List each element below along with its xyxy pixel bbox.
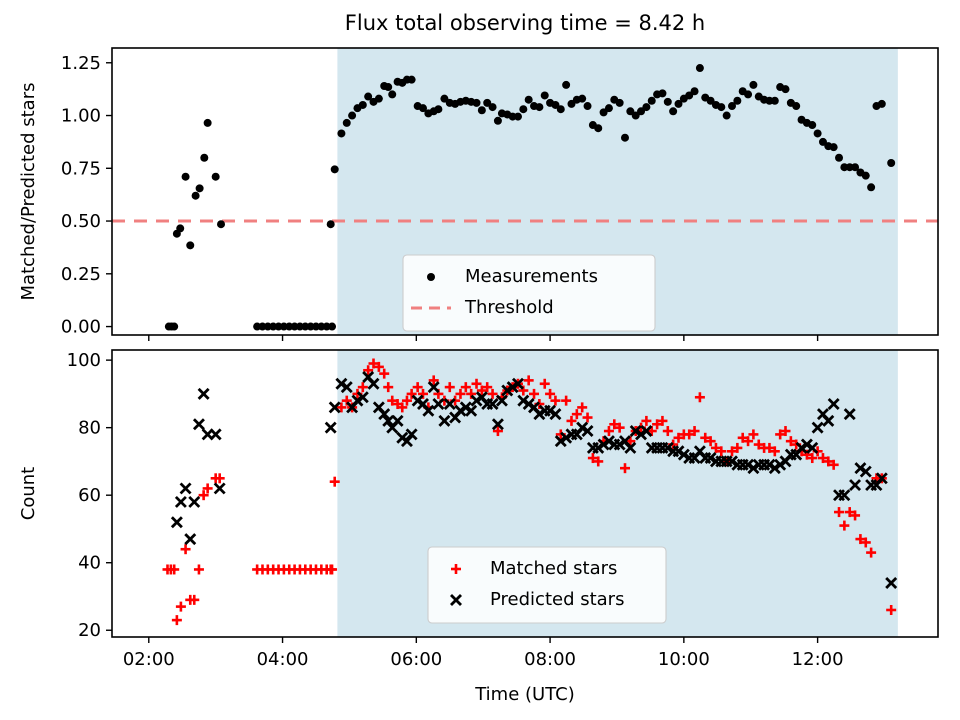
measurement-point	[204, 119, 212, 127]
legend: MeasurementsThreshold	[403, 255, 655, 331]
y-axis-label: Count	[18, 467, 39, 520]
measurement-point	[212, 173, 220, 181]
plot-svg: Flux total observing time = 8.42 h 0.000…	[0, 0, 960, 720]
y-tick-label: 0.25	[61, 264, 101, 285]
measurement-point	[359, 101, 367, 109]
measurement-point	[584, 102, 592, 110]
measurement-point	[196, 184, 204, 192]
y-tick-label: 40	[78, 553, 101, 574]
legend-label: Measurements	[465, 266, 598, 287]
measurement-point	[648, 97, 656, 105]
measurement-point	[562, 81, 570, 89]
measurement-point	[217, 220, 225, 228]
measurement-point	[733, 97, 741, 105]
y-tick-label: 20	[78, 620, 101, 641]
measurement-point	[327, 220, 335, 228]
chart-title: Flux total observing time = 8.42 h	[345, 11, 705, 35]
measurement-point	[192, 192, 200, 200]
x-axis-label: Time (UTC)	[474, 684, 575, 705]
x-tick-label: 10:00	[658, 649, 710, 670]
measurement-point	[331, 165, 339, 173]
measurement-point	[862, 172, 870, 180]
legend-label: Threshold	[464, 297, 554, 318]
legend: Matched starsPredicted stars	[428, 547, 666, 623]
legend-label: Matched stars	[490, 558, 617, 579]
measurement-point	[337, 129, 345, 137]
legend-label: Predicted stars	[490, 589, 624, 610]
measurement-point	[186, 241, 194, 249]
x-tick-label: 04:00	[257, 649, 309, 670]
measurement-point	[328, 323, 336, 331]
x-tick-label: 02:00	[123, 649, 175, 670]
measurement-point	[887, 159, 895, 167]
measurement-point	[478, 106, 486, 114]
y-tick-label: 0.75	[61, 158, 101, 179]
measurement-point	[867, 183, 875, 191]
measurement-point	[814, 129, 822, 137]
measurement-point	[388, 90, 396, 98]
measurement-point	[605, 104, 613, 112]
measurement-point	[541, 91, 549, 99]
measurement-point	[176, 224, 184, 232]
y-tick-label: 0.50	[61, 211, 101, 232]
measurement-point	[616, 99, 624, 107]
measurement-point	[489, 103, 497, 111]
measurement-point	[434, 105, 442, 113]
measurement-point	[408, 76, 416, 84]
measurement-point	[348, 112, 356, 120]
measurement-point	[642, 103, 650, 111]
measurement-point	[658, 89, 666, 97]
y-tick-label: 0.00	[61, 317, 101, 338]
measurement-point	[535, 103, 543, 111]
y-tick-label: 1.00	[61, 106, 101, 127]
measurement-point	[669, 107, 677, 115]
measurement-point	[427, 273, 435, 281]
measurement-point	[723, 112, 731, 120]
measurement-point	[473, 99, 481, 107]
measurement-point	[744, 90, 752, 98]
measurement-point	[878, 100, 886, 108]
measurement-point	[525, 96, 533, 104]
measurement-point	[664, 98, 672, 106]
measurement-point	[384, 83, 392, 91]
measurement-point	[696, 64, 704, 72]
y-tick-label: 1.25	[61, 53, 101, 74]
measurement-point	[782, 85, 790, 93]
y-axis-label: Matched/Predicted stars	[18, 83, 39, 301]
measurement-point	[375, 95, 383, 103]
measurement-point	[792, 102, 800, 110]
x-tick-label: 06:00	[390, 649, 442, 670]
x-tick-label: 08:00	[524, 649, 576, 670]
measurement-point	[514, 113, 522, 121]
measurement-point	[594, 124, 602, 132]
measurement-point	[578, 95, 586, 103]
measurement-point	[170, 323, 178, 331]
measurement-point	[835, 154, 843, 162]
measurement-point	[808, 121, 816, 129]
y-tick-label: 60	[78, 485, 101, 506]
measurement-point	[691, 87, 699, 95]
measurement-point	[557, 105, 565, 113]
measurement-point	[749, 81, 757, 89]
measurement-point	[494, 117, 502, 125]
measurement-point	[200, 154, 208, 162]
measurement-point	[717, 103, 725, 111]
measurement-point	[343, 119, 351, 127]
measurement-point	[621, 134, 629, 142]
y-tick-label: 80	[78, 418, 101, 439]
measurement-point	[519, 105, 527, 113]
measurement-point	[771, 97, 779, 105]
figure-canvas: Flux total observing time = 8.42 h 0.000…	[0, 0, 960, 720]
measurement-point	[830, 143, 838, 151]
y-tick-label: 100	[67, 350, 101, 371]
x-tick-label: 12:00	[792, 649, 844, 670]
measurement-point	[182, 173, 190, 181]
